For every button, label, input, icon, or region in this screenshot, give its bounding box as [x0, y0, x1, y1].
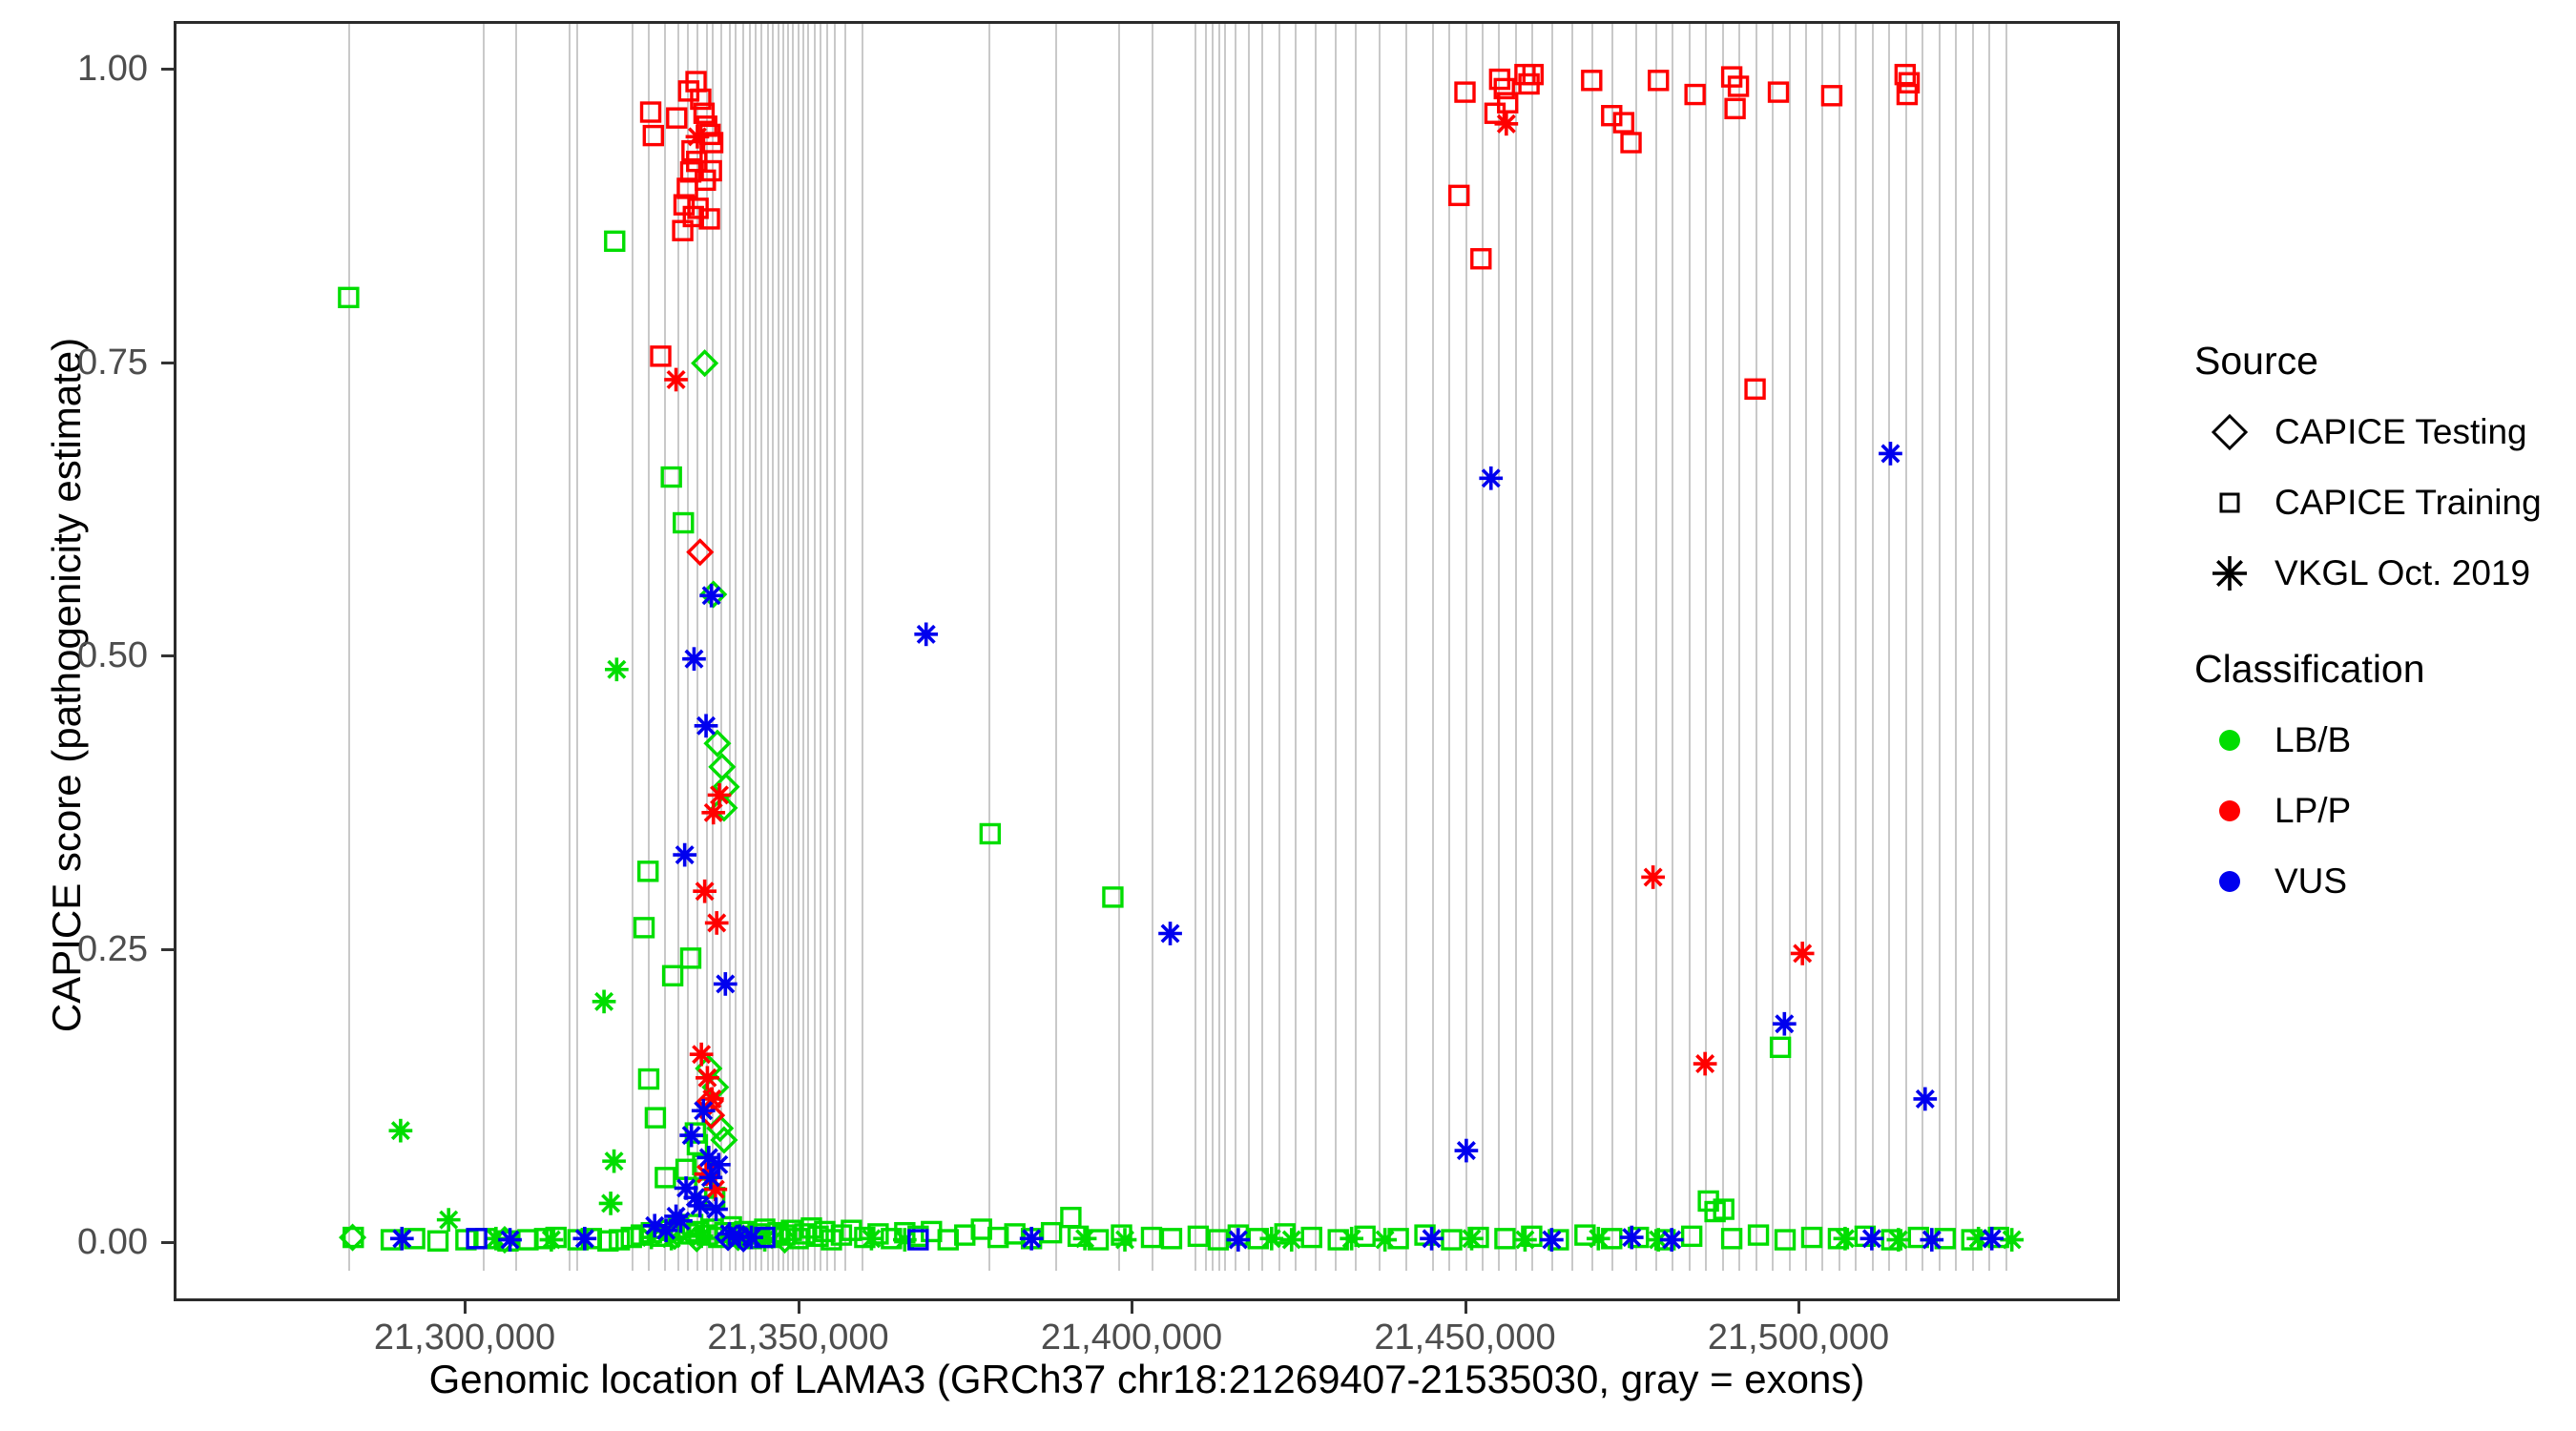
data-point: [1302, 1229, 1320, 1247]
data-point: [1340, 1227, 1363, 1251]
data-point: [668, 109, 686, 127]
data-point: [701, 800, 725, 824]
legend-title: Classification: [2194, 647, 2576, 692]
chart-root: CAPICE score (pathogenicity estimate) Ge…: [0, 0, 2576, 1431]
legend-label: LP/P: [2275, 791, 2351, 831]
x-tick-mark: [798, 1301, 800, 1314]
data-point: [1650, 72, 1668, 90]
data-point: [390, 1227, 414, 1251]
data-point: [1660, 1228, 1684, 1252]
data-point: [662, 468, 680, 487]
data-point: [1373, 1228, 1397, 1252]
plot-panel-inner: [177, 24, 2117, 1298]
data-point: [699, 584, 723, 608]
y-tick-mark: [161, 68, 174, 71]
data-point: [498, 1228, 522, 1252]
x-axis-title: Genomic location of LAMA3 (GRCh37 chr18:…: [174, 1353, 2120, 1405]
data-point: [639, 1070, 657, 1089]
data-point: [646, 1109, 664, 1127]
data-point: [1887, 1228, 1911, 1252]
data-point: [1494, 112, 1518, 135]
data-point: [1062, 1209, 1080, 1227]
legend-item-vus[interactable]: VUS: [2194, 846, 2576, 917]
data-point: [656, 1169, 675, 1187]
legend-key: [2194, 467, 2265, 538]
data-point: [711, 756, 734, 778]
plot-panel: [174, 21, 2120, 1301]
legend-key: [2194, 705, 2265, 776]
data-point: [642, 103, 660, 121]
legend: SourceCAPICE TestingCAPICE TrainingVKGL …: [2194, 339, 2576, 955]
data-point: [1443, 1231, 1461, 1249]
data-point: [1791, 942, 1815, 965]
data-point: [599, 1192, 623, 1215]
series-square-LP-P: [642, 66, 1919, 399]
y-tick-label: 1.00: [33, 48, 148, 90]
circle-icon: [2204, 715, 2255, 766]
data-point: [1614, 114, 1632, 132]
diamond-icon: [2204, 406, 2255, 458]
data-point: [1620, 1226, 1644, 1250]
data-point: [572, 1227, 596, 1251]
data-point: [693, 880, 717, 903]
x-tick-label: 21,350,000: [675, 1316, 923, 1359]
data-point: [1776, 1231, 1795, 1249]
data-point: [1450, 186, 1468, 204]
square-icon: [2204, 477, 2255, 529]
y-tick-label: 0.25: [33, 928, 148, 970]
data-point: [1209, 1231, 1227, 1249]
asterisk-icon: [2204, 548, 2255, 599]
data-point: [693, 352, 716, 375]
x-tick-mark: [1797, 1301, 1800, 1314]
data-point: [1622, 134, 1640, 152]
legend-label: VUS: [2275, 861, 2347, 902]
data-point: [1020, 1227, 1044, 1251]
data-point: [713, 1129, 736, 1151]
data-point: [690, 1043, 714, 1067]
x-tick-label: 21,300,000: [341, 1316, 589, 1359]
data-point: [1773, 1012, 1797, 1036]
data-point: [1496, 1230, 1514, 1248]
legend-label: LB/B: [2275, 720, 2351, 760]
y-tick-mark: [161, 654, 174, 657]
data-point: [1226, 1228, 1250, 1252]
data-point: [1189, 1227, 1207, 1245]
data-point: [1479, 467, 1503, 490]
data-point: [699, 1166, 723, 1190]
data-point: [860, 1227, 883, 1251]
data-point: [1158, 922, 1182, 945]
legend-key: [2194, 846, 2265, 917]
data-points: [177, 24, 2117, 1298]
circle-icon: [2204, 785, 2255, 837]
x-tick-mark: [1465, 1301, 1467, 1314]
y-axis-title: CAPICE score (pathogenicity estimate): [38, 65, 95, 1305]
data-point: [708, 783, 732, 807]
data-point: [1603, 107, 1621, 125]
data-point: [1726, 99, 1744, 117]
data-point: [1513, 1228, 1537, 1252]
data-point: [1583, 72, 1601, 90]
data-point: [606, 232, 624, 250]
data-point: [1860, 1227, 1884, 1251]
data-point: [652, 347, 670, 365]
data-point: [429, 1232, 447, 1250]
data-point: [1746, 380, 1764, 398]
data-point: [1834, 1227, 1858, 1251]
data-point: [1822, 87, 1840, 105]
data-point: [1802, 1229, 1820, 1247]
series-square-LB-B: [340, 232, 2007, 1250]
data-point: [1073, 1227, 1097, 1251]
x-tick-label: 21,500,000: [1674, 1316, 1922, 1359]
x-tick-mark: [464, 1301, 467, 1314]
series-asterisk-LP-P: [664, 112, 1814, 1201]
legend-item-lp-p[interactable]: LP/P: [2194, 776, 2576, 846]
data-point: [1420, 1227, 1444, 1251]
data-point: [690, 1225, 714, 1249]
y-tick-label: 0.75: [33, 342, 148, 384]
data-point: [1142, 1229, 1160, 1247]
data-point: [1750, 1226, 1768, 1244]
data-point: [1043, 1224, 1061, 1242]
data-point: [1576, 1226, 1594, 1244]
data-point: [1772, 1038, 1790, 1056]
data-point: [692, 1099, 716, 1123]
data-point: [981, 824, 999, 842]
data-point: [1472, 250, 1490, 268]
data-point: [592, 990, 616, 1014]
legend-label: VKGL Oct. 2019: [2275, 553, 2530, 593]
y-tick-label: 0.00: [33, 1221, 148, 1263]
data-point: [704, 1197, 728, 1221]
data-point: [1683, 1227, 1701, 1245]
data-point: [635, 919, 654, 937]
y-tick-mark: [161, 1241, 174, 1244]
legend-item-vkgl-oct--2019[interactable]: VKGL Oct. 2019: [2194, 538, 2576, 609]
legend-title: Source: [2194, 339, 2576, 384]
y-tick-mark: [161, 948, 174, 951]
data-point: [1540, 1228, 1564, 1252]
data-point: [686, 125, 710, 149]
data-point: [1920, 1228, 1943, 1252]
legend-label: CAPICE Training: [2275, 483, 2542, 523]
x-tick-label: 21,450,000: [1341, 1316, 1589, 1359]
legend-block-classification: ClassificationLB/BLP/PVUS: [2194, 647, 2576, 917]
data-point: [914, 623, 938, 647]
data-point: [639, 862, 657, 881]
data-point: [689, 541, 712, 564]
data-point: [681, 949, 699, 967]
data-point: [605, 657, 629, 681]
data-point: [705, 911, 729, 935]
legend-item-lb-b[interactable]: LB/B: [2194, 705, 2576, 776]
legend-label: CAPICE Testing: [2275, 412, 2527, 452]
data-point: [1980, 1227, 2004, 1251]
legend-key: [2194, 538, 2265, 609]
data-point: [1879, 442, 1902, 466]
data-point: [1693, 1052, 1717, 1076]
data-point: [340, 288, 358, 306]
x-tick-mark: [1131, 1301, 1133, 1314]
legend-key: [2194, 397, 2265, 467]
data-point: [654, 1218, 678, 1242]
data-point: [437, 1208, 461, 1232]
data-point: [1279, 1228, 1303, 1252]
data-point: [706, 732, 729, 755]
circle-icon: [2204, 856, 2255, 907]
data-point: [673, 843, 696, 867]
data-point: [664, 966, 682, 985]
data-point: [1913, 1088, 1937, 1111]
data-point: [675, 514, 693, 532]
y-tick-mark: [161, 362, 174, 364]
data-point: [682, 647, 706, 671]
data-point: [1587, 1227, 1610, 1251]
data-point: [695, 714, 718, 737]
legend-item-capice-testing[interactable]: CAPICE Testing: [2194, 397, 2576, 467]
data-point: [1113, 1228, 1137, 1252]
series-asterisk-LB-B: [389, 657, 2024, 1251]
legend-item-capice-training[interactable]: CAPICE Training: [2194, 467, 2576, 538]
data-point: [1641, 865, 1665, 889]
x-tick-label: 21,400,000: [1008, 1316, 1256, 1359]
data-point: [688, 1194, 712, 1218]
data-point: [679, 1124, 703, 1148]
data-point: [1460, 1227, 1484, 1251]
y-tick-label: 0.50: [33, 634, 148, 676]
data-point: [644, 127, 662, 145]
legend-block-source: SourceCAPICE TestingCAPICE TrainingVKGL …: [2194, 339, 2576, 609]
data-point: [714, 972, 737, 996]
data-point: [1104, 888, 1122, 906]
data-point: [696, 1066, 719, 1089]
data-point: [664, 368, 688, 392]
data-point: [1723, 1230, 1741, 1248]
series-diamond-LP-P: [689, 541, 723, 1128]
series-asterisk-VUS: [390, 442, 2004, 1252]
data-point: [602, 1150, 626, 1173]
data-point: [540, 1228, 564, 1252]
data-point: [389, 1119, 413, 1143]
legend-key: [2194, 776, 2265, 846]
data-point: [1770, 83, 1788, 101]
data-point: [1455, 1139, 1479, 1163]
data-point: [739, 1226, 763, 1250]
data-point: [1162, 1230, 1180, 1248]
data-point: [1456, 83, 1474, 101]
data-point: [1686, 86, 1704, 104]
